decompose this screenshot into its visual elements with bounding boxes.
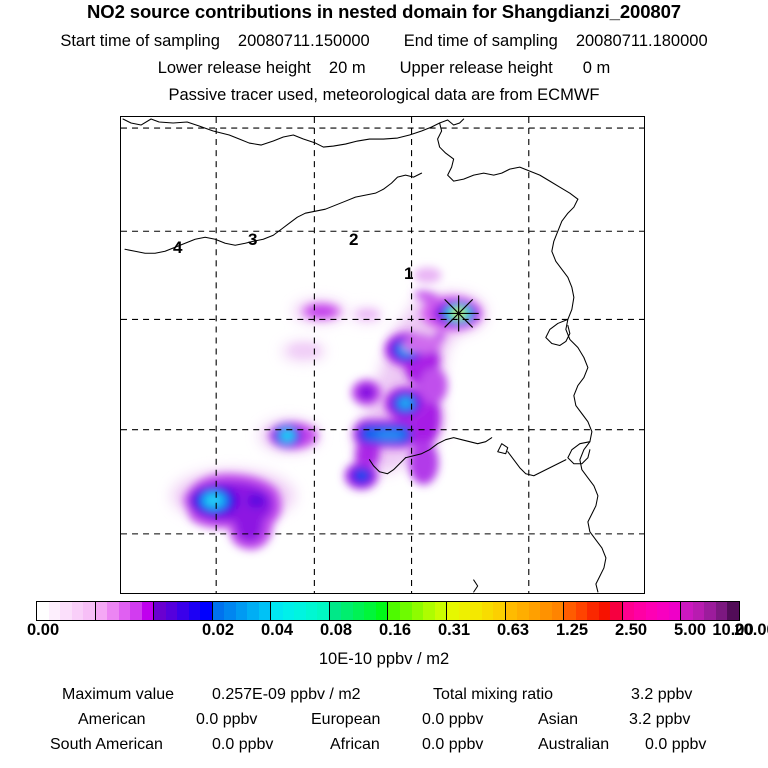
region-label-european: European <box>311 712 380 728</box>
upper-release-height-value: 0 m <box>583 59 611 77</box>
colorbar-shade-9-1 <box>576 602 588 620</box>
colorbar-shade-0-2 <box>60 602 72 620</box>
region-value-european: 0.0 ppbv <box>422 712 483 728</box>
colorbar-segment-8 <box>506 602 565 620</box>
colorbar-segment-3 <box>213 602 272 620</box>
footer-row-regions-1: American 0.0 ppbv European 0.0 ppbv Asia… <box>0 712 768 734</box>
region-value-american: 0.0 ppbv <box>196 712 257 728</box>
end-time-label: End time of sampling <box>404 32 558 50</box>
colorbar-shade-9-2 <box>587 602 599 620</box>
colorbar-segment-6 <box>388 602 447 620</box>
lower-release-height-label: Lower release height <box>158 59 311 77</box>
colorbar-tick-7: 1.25 <box>556 622 588 639</box>
plot-canvas: NO2 source contributions in nested domai… <box>0 0 768 768</box>
colorbar-shade-10-0 <box>623 602 635 620</box>
colorbar-segment-1 <box>96 602 155 620</box>
footer-row-summary: Maximum value 0.257E-09 ppbv / m2 Total … <box>0 687 768 709</box>
colorbar-shade-3-1 <box>224 602 236 620</box>
colorbar-shade-10-3 <box>657 602 669 620</box>
colorbar-shade-5-2 <box>353 602 365 620</box>
sampling-time-line: Start time of sampling20080711.150000End… <box>0 33 768 50</box>
colorbar-shade-10-4 <box>669 602 681 620</box>
colorbar-shade-4-0 <box>271 602 283 620</box>
region-value-australian: 0.0 ppbv <box>645 737 706 753</box>
colorbar[interactable] <box>36 601 740 621</box>
colorbar-shade-1-2 <box>119 602 131 620</box>
colorbar-shade-5-3 <box>364 602 376 620</box>
colorbar-shade-10-2 <box>646 602 658 620</box>
colorbar-shade-5-1 <box>341 602 353 620</box>
colorbar-shade-6-4 <box>435 602 447 620</box>
colorbar-segment-2 <box>154 602 213 620</box>
map-inner: 4 3 2 1 <box>121 117 644 593</box>
colorbar-shade-8-1 <box>517 602 529 620</box>
region-label-african: African <box>330 737 380 753</box>
colorbar-shade-9-3 <box>599 602 611 620</box>
colorbar-shade-11-4 <box>727 602 739 620</box>
colorbar-segment-9 <box>564 602 623 620</box>
colorbar-shade-3-2 <box>236 602 248 620</box>
colorbar-tick-5: 0.31 <box>438 622 470 639</box>
colorbar-shade-11-2 <box>704 602 716 620</box>
colorbar-shade-1-3 <box>130 602 142 620</box>
colorbar-shade-6-2 <box>412 602 424 620</box>
colorbar-shade-8-4 <box>552 602 564 620</box>
colorbar-shade-9-4 <box>610 602 622 620</box>
colorbar-shade-5-4 <box>376 602 388 620</box>
footer-row-regions-2: South American 0.0 ppbv African 0.0 ppbv… <box>0 737 768 759</box>
colorbar-shade-0-4 <box>83 602 95 620</box>
colorbar-shade-10-1 <box>634 602 646 620</box>
total-mixing-ratio-label: Total mixing ratio <box>433 687 553 703</box>
colorbar-shade-1-1 <box>107 602 119 620</box>
colorbar-segment-11 <box>681 602 739 620</box>
receptor-marker-layer <box>121 117 644 593</box>
colorbar-shade-4-3 <box>306 602 318 620</box>
region-label-australian: Australian <box>538 737 609 753</box>
colorbar-shade-6-1 <box>400 602 412 620</box>
colorbar-shade-7-0 <box>447 602 459 620</box>
colorbar-shade-0-0 <box>37 602 49 620</box>
release-height-line: Lower release height20 mUpper release he… <box>0 60 768 77</box>
tracer-note: Passive tracer used, meteorological data… <box>0 87 768 104</box>
region-value-south-american: 0.0 ppbv <box>212 737 273 753</box>
colorbar-shade-0-1 <box>49 602 61 620</box>
colorbar-segment-10 <box>623 602 682 620</box>
colorbar-shade-11-1 <box>693 602 705 620</box>
colorbar-shade-9-0 <box>564 602 576 620</box>
colorbar-tick-2: 0.04 <box>261 622 293 639</box>
lower-release-height-value: 20 m <box>329 59 366 77</box>
colorbar-shade-2-2 <box>177 602 189 620</box>
colorbar-tick-6: 0.63 <box>497 622 529 639</box>
colorbar-segment-0 <box>37 602 96 620</box>
colorbar-shade-1-0 <box>96 602 108 620</box>
colorbar-container <box>36 601 740 621</box>
colorbar-shade-8-2 <box>529 602 541 620</box>
colorbar-shade-7-3 <box>482 602 494 620</box>
colorbar-shade-6-0 <box>388 602 400 620</box>
colorbar-shade-7-1 <box>459 602 471 620</box>
receptor-station-marker <box>439 295 479 331</box>
colorbar-tick-3: 0.08 <box>320 622 352 639</box>
colorbar-shade-2-3 <box>189 602 201 620</box>
end-time-value: 20080711.180000 <box>576 32 708 50</box>
colorbar-segment-5 <box>330 602 389 620</box>
colorbar-segment-4 <box>271 602 330 620</box>
colorbar-tick-labels: 0.000.020.040.080.160.310.631.252.505.00… <box>0 622 768 642</box>
colorbar-shade-3-4 <box>259 602 271 620</box>
region-value-asian: 3.2 ppbv <box>629 712 690 728</box>
colorbar-shade-5-0 <box>330 602 342 620</box>
start-time-value: 20080711.150000 <box>238 32 370 50</box>
colorbar-tick-0: 0.00 <box>27 622 59 639</box>
colorbar-shade-8-0 <box>506 602 518 620</box>
colorbar-shade-3-0 <box>213 602 225 620</box>
page-title: NO2 source contributions in nested domai… <box>0 3 768 22</box>
colorbar-shade-4-2 <box>294 602 306 620</box>
colorbar-shade-7-2 <box>470 602 482 620</box>
colorbar-tick-1: 0.02 <box>202 622 234 639</box>
colorbar-shade-4-4 <box>317 602 329 620</box>
upper-release-height-label: Upper release height <box>400 59 553 77</box>
colorbar-shade-3-3 <box>247 602 259 620</box>
colorbar-tick-11: 20.00 <box>734 622 768 639</box>
colorbar-shade-7-4 <box>493 602 505 620</box>
maximum-value: 0.257E-09 ppbv / m2 <box>212 687 361 703</box>
colorbar-shade-2-0 <box>154 602 166 620</box>
colorbar-shade-0-3 <box>72 602 84 620</box>
colorbar-shade-1-4 <box>142 602 154 620</box>
colorbar-shade-2-1 <box>166 602 178 620</box>
colorbar-shade-8-3 <box>540 602 552 620</box>
colorbar-tick-8: 2.50 <box>615 622 647 639</box>
start-time-label: Start time of sampling <box>60 32 220 50</box>
region-value-african: 0.0 ppbv <box>422 737 483 753</box>
total-mixing-ratio-value: 3.2 ppbv <box>631 687 692 703</box>
colorbar-axis-label: 10E-10 ppbv / m2 <box>0 651 768 668</box>
region-label-south-american: South American <box>50 737 163 753</box>
colorbar-shade-4-1 <box>283 602 295 620</box>
maximum-value-label: Maximum value <box>62 687 174 703</box>
region-label-asian: Asian <box>538 712 578 728</box>
colorbar-shade-2-4 <box>200 602 212 620</box>
colorbar-tick-4: 0.16 <box>379 622 411 639</box>
colorbar-tick-9: 5.00 <box>674 622 706 639</box>
colorbar-segment-7 <box>447 602 506 620</box>
map-plot-area: 4 3 2 1 <box>120 116 645 594</box>
region-label-american: American <box>78 712 146 728</box>
colorbar-shade-6-3 <box>423 602 435 620</box>
colorbar-shade-11-3 <box>716 602 728 620</box>
colorbar-shade-11-0 <box>681 602 693 620</box>
